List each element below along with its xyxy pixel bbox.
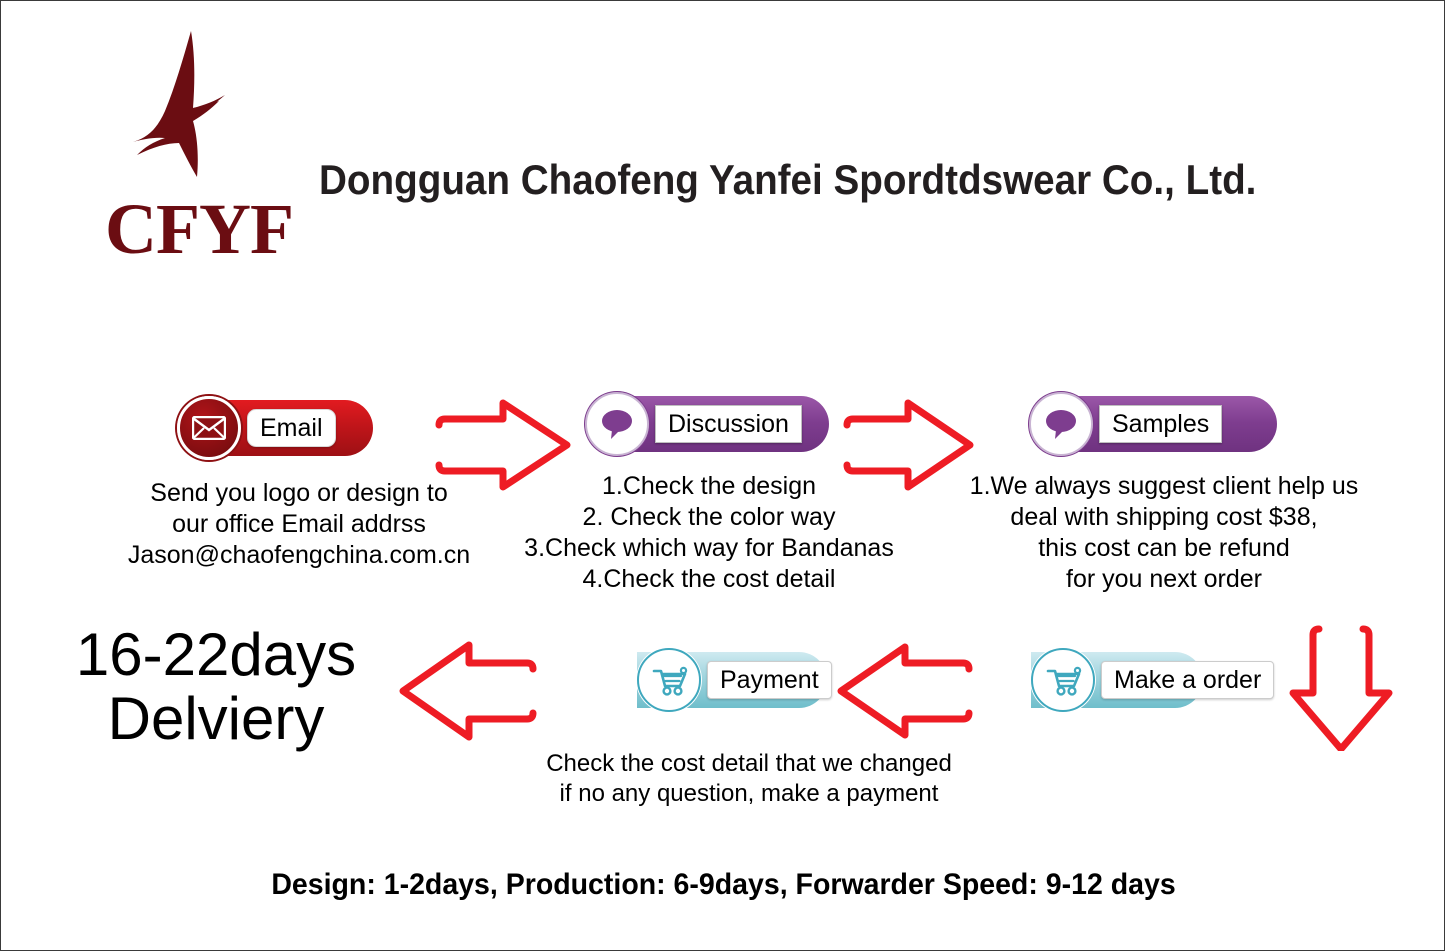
email-caption: Send you logo or design to our office Em… — [109, 478, 489, 571]
samples-caption-line-3: this cost can be refund — [949, 533, 1379, 564]
speech-bubble-icon — [1029, 392, 1093, 456]
infographic-canvas: CFYF Dongguan Chaofeng Yanfei Spordtdswe… — [0, 0, 1445, 951]
company-title: Dongguan Chaofeng Yanfei Spordtdswear Co… — [319, 156, 1256, 204]
shopping-cart-icon — [1031, 648, 1095, 712]
email-badge-label: Email — [247, 409, 336, 447]
footer-timeline-note: Design: 1-2days, Production: 6-9days, Fo… — [37, 866, 1410, 904]
samples-caption-line-4: for you next order — [949, 564, 1379, 595]
arrow-order-to-payment-icon — [835, 641, 975, 741]
step-badge-discussion[interactable]: Discussion — [585, 393, 831, 455]
payment-caption: Check the cost detail that we changed if… — [499, 749, 999, 809]
logo-wordmark: CFYF — [105, 193, 293, 265]
arrow-payment-to-delivery-icon — [397, 639, 539, 743]
samples-caption-line-1: 1.We always suggest client help us — [949, 471, 1379, 502]
discussion-caption-line-4: 4.Check the cost detail — [499, 564, 919, 595]
email-caption-line-2: our office Email addrss — [109, 509, 489, 540]
discussion-caption-line-2: 2. Check the color way — [499, 502, 919, 533]
speech-bubble-icon — [585, 392, 649, 456]
shopping-cart-icon — [637, 648, 701, 712]
samples-caption-line-2: deal with shipping cost $38, — [949, 502, 1379, 533]
payment-badge-label: Payment — [707, 661, 832, 699]
delivery-line-1: 16-22days — [41, 623, 391, 687]
swallow-bird-logo-icon — [113, 29, 283, 179]
discussion-caption-line-3: 3.Check which way for Bandanas — [499, 533, 919, 564]
email-caption-line-3: Jason@chaofengchina.com.cn — [109, 540, 489, 571]
step-badge-email[interactable]: Email — [177, 397, 377, 459]
envelope-icon — [177, 396, 241, 460]
samples-badge-label: Samples — [1099, 405, 1222, 443]
step-badge-samples[interactable]: Samples — [1029, 393, 1277, 455]
delivery-line-2: Delviery — [41, 687, 391, 751]
delivery-time-text: 16-22days Delviery — [41, 623, 391, 751]
arrow-samples-to-order-icon — [1286, 623, 1396, 751]
email-caption-line-1: Send you logo or design to — [109, 478, 489, 509]
payment-caption-line-2: if no any question, make a payment — [499, 779, 999, 809]
discussion-badge-label: Discussion — [655, 405, 802, 443]
step-badge-payment[interactable]: Payment — [637, 649, 827, 711]
step-badge-make-order[interactable]: Make a order — [1031, 649, 1203, 711]
payment-caption-line-1: Check the cost detail that we changed — [499, 749, 999, 779]
make-order-badge-label: Make a order — [1101, 661, 1274, 699]
samples-caption: 1.We always suggest client help us deal … — [949, 471, 1379, 595]
